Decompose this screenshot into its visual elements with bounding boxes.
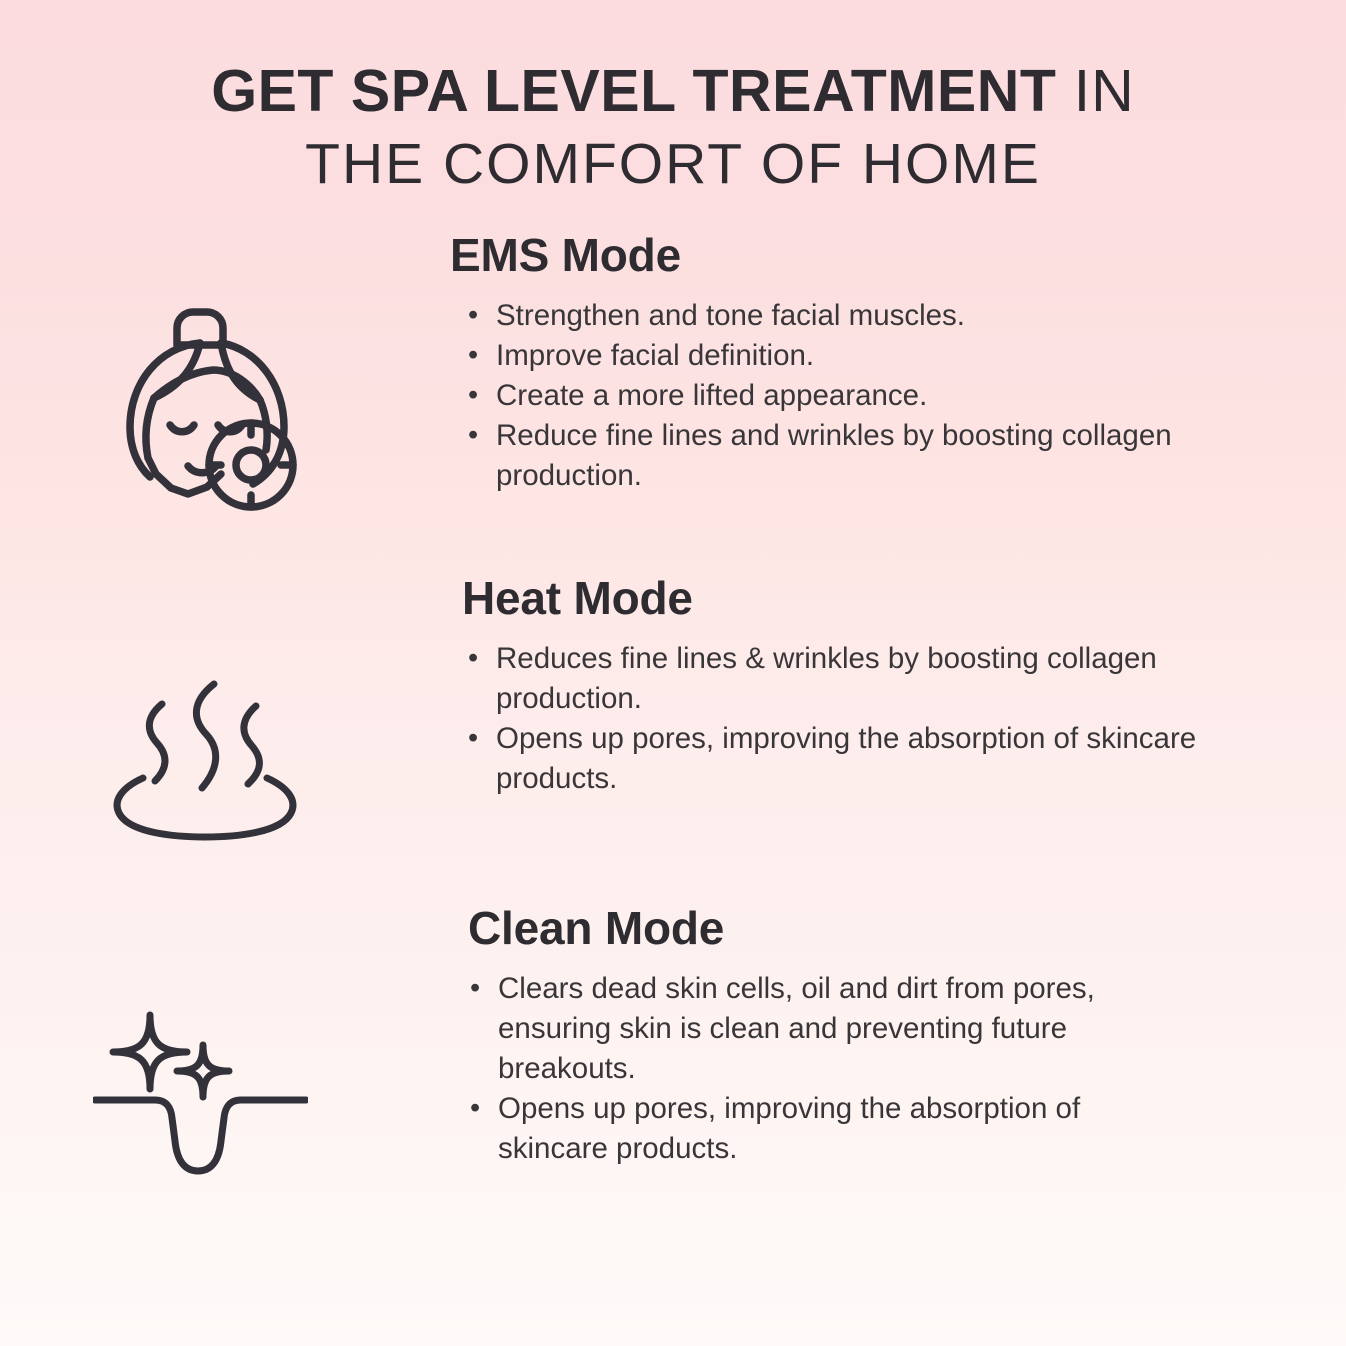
ems-mode-title: EMS Mode bbox=[450, 228, 1246, 282]
heat-mode-title: Heat Mode bbox=[462, 571, 1246, 625]
section-clean-mode: Clean Mode Clears dead skin cells, oil a… bbox=[0, 901, 1346, 1231]
clean-mode-title: Clean Mode bbox=[468, 901, 1246, 955]
list-item: Strengthen and tone facial muscles. bbox=[466, 296, 1246, 336]
ems-text-column: EMS Mode Strengthen and tone facial musc… bbox=[448, 226, 1346, 496]
heat-bullet-list: Reduces fine lines & wrinkles by boostin… bbox=[466, 639, 1246, 799]
ems-icon-column bbox=[0, 226, 448, 511]
ems-bullet-list: Strengthen and tone facial muscles. Impr… bbox=[466, 296, 1246, 496]
mode-sections: EMS Mode Strengthen and tone facial musc… bbox=[0, 226, 1346, 1231]
clean-icon-column bbox=[0, 901, 448, 1186]
headline-line-2: THE COMFORT OF HOME bbox=[0, 128, 1346, 200]
infographic-page: { "headline": { "line1_bold": "GET SPA L… bbox=[0, 0, 1346, 1346]
section-heat-mode: Heat Mode Reduces fine lines & wrinkles … bbox=[0, 571, 1346, 901]
list-item: Opens up pores, improving the absorption… bbox=[466, 719, 1246, 799]
headline-suffix: IN bbox=[1056, 58, 1134, 124]
list-item: Clears dead skin cells, oil and dirt fro… bbox=[468, 969, 1168, 1089]
headline-line-1: GET SPA LEVEL TREATMENT IN bbox=[0, 54, 1346, 128]
page-headline: GET SPA LEVEL TREATMENT IN THE COMFORT O… bbox=[0, 0, 1346, 200]
headline-emphasis: GET SPA LEVEL TREATMENT bbox=[211, 58, 1056, 124]
list-item: Create a more lifted appearance. bbox=[466, 376, 1246, 416]
woman-face-ems-device-icon bbox=[114, 286, 314, 511]
heat-text-column: Heat Mode Reduces fine lines & wrinkles … bbox=[448, 571, 1346, 799]
heat-icon-column bbox=[0, 571, 448, 841]
clean-bullet-list: Clears dead skin cells, oil and dirt fro… bbox=[468, 969, 1168, 1169]
section-ems-mode: EMS Mode Strengthen and tone facial musc… bbox=[0, 226, 1346, 571]
steam-heat-icon bbox=[105, 676, 305, 841]
list-item: Reduce fine lines and wrinkles by boosti… bbox=[466, 416, 1246, 496]
list-item: Improve facial definition. bbox=[466, 336, 1246, 376]
list-item: Reduces fine lines & wrinkles by boostin… bbox=[466, 639, 1246, 719]
list-item: Opens up pores, improving the absorption… bbox=[468, 1089, 1168, 1169]
clean-pore-sparkle-icon bbox=[93, 1011, 308, 1186]
clean-text-column: Clean Mode Clears dead skin cells, oil a… bbox=[448, 901, 1346, 1169]
